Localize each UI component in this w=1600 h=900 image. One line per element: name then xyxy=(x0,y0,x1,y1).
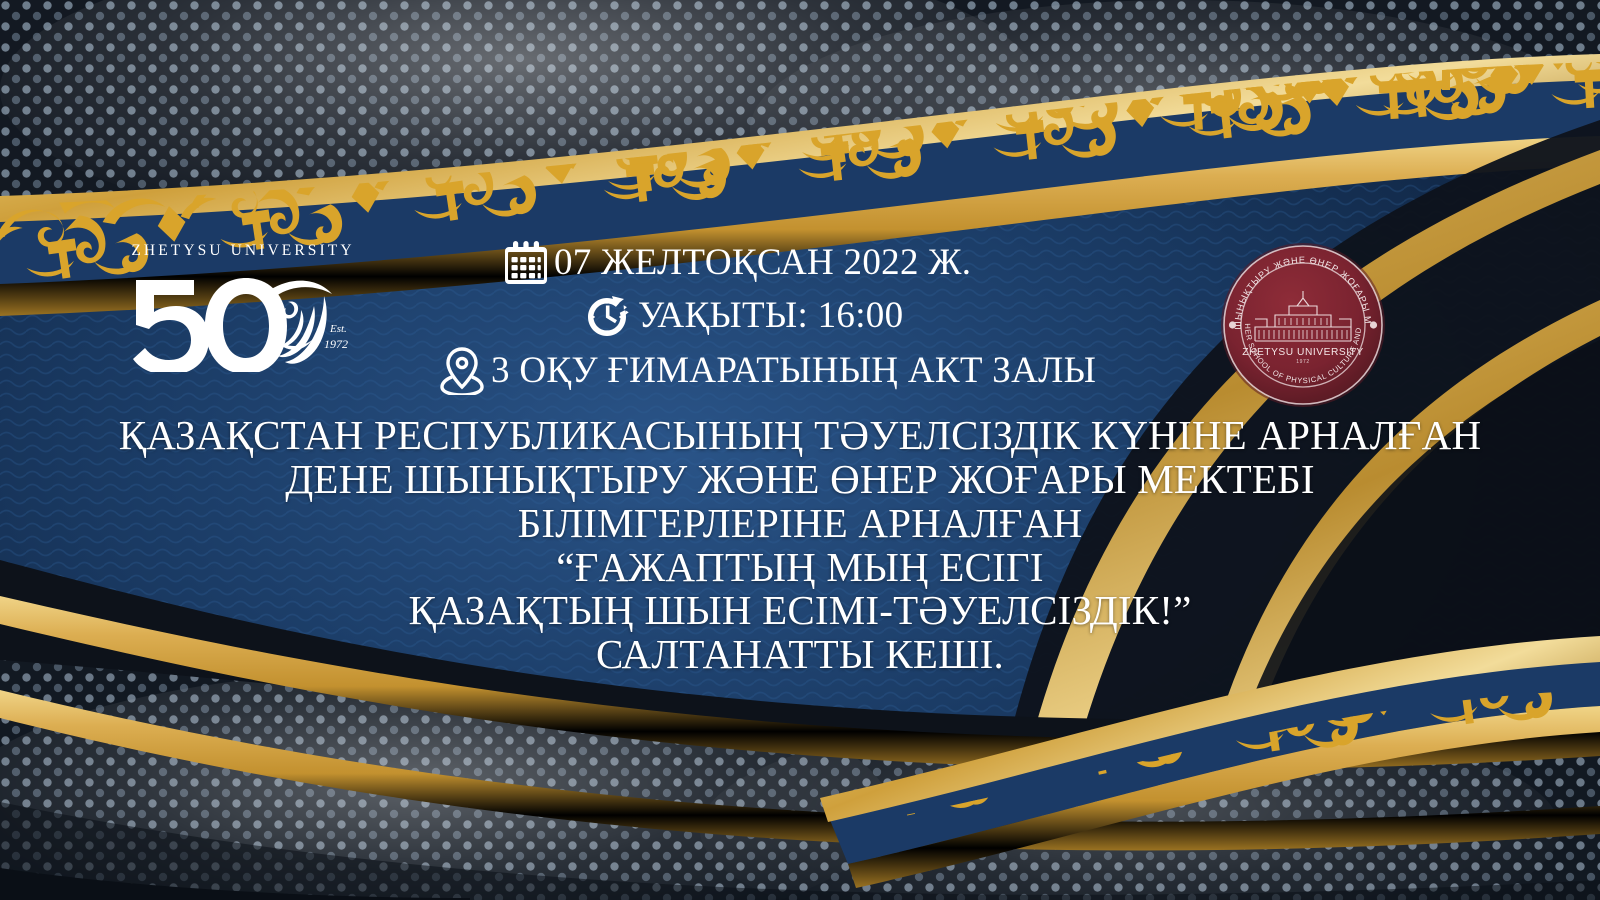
event-time-row: УАҚЫТЫ: 16:00 xyxy=(440,288,1080,342)
event-time-text: УАҚЫТЫ: 16:00 xyxy=(638,297,903,334)
headline-line: САЛТАНАТТЫ КЕШІ. xyxy=(0,633,1600,677)
event-details: 07 ЖЕЛТОҚСАН 2022 Ж. УАҚЫТЫ: 16:00 xyxy=(440,236,1080,398)
location-pin-icon xyxy=(440,345,484,395)
logo-est-label: Est. xyxy=(329,323,347,335)
headline-line: БІЛІМГЕРЛЕРІНЕ АРНАЛҒАН xyxy=(0,502,1600,546)
event-date-row: 07 ЖЕЛТОҚСАН 2022 Ж. xyxy=(440,236,1080,288)
logo-university-name: ZHETYSU UNIVERSITY xyxy=(118,242,368,260)
emblem-center-label: ZHETYSU UNIVERSITY xyxy=(1242,347,1363,358)
headline-line: ДЕНЕ ШЫНЫҚТЫРУ ЖӘНЕ ӨНЕР ЖОҒАРЫ МЕКТЕБІ xyxy=(0,458,1600,502)
poster-headline: ҚАЗАҚСТАН РЕСПУБЛИКАСЫНЫҢ ТӘУЕЛСІЗДІК КҮ… xyxy=(0,414,1600,677)
event-place-text: 3 ОҚУ ҒИМАРАТЫНЫҢ АКТ ЗАЛЫ xyxy=(491,352,1096,389)
event-place-row: 3 ОҚУ ҒИМАРАТЫНЫҢ АКТ ЗАЛЫ xyxy=(440,342,1080,398)
calendar-icon xyxy=(505,240,547,284)
logo-est-year: 1972 xyxy=(324,337,348,351)
headline-line: ҚАЗАҚСТАН РЕСПУБЛИКАСЫНЫҢ ТӘУЕЛСІЗДІК КҮ… xyxy=(0,414,1600,458)
emblem-center-sub: 1972 xyxy=(1296,359,1310,365)
university-anniversary-logo: ZHETYSU UNIVERSITY Est. 1 xyxy=(118,242,368,382)
clock-icon xyxy=(585,292,631,338)
logo-50-jyl-mark: Est. 1972 xyxy=(118,260,368,372)
headline-line: “ҒАЖАПТЫҢ МЫҢ ЕСІГІ xyxy=(0,546,1600,590)
headline-line: ҚАЗАҚТЫҢ ШЫН ЕСІМІ-ТӘУЕЛСІЗДІК!” xyxy=(0,589,1600,633)
event-date-text: 07 ЖЕЛТОҚСАН 2022 Ж. xyxy=(554,244,971,281)
school-emblem: ДЕНЕ ШЫНЫҚТЫРУ ЖӘНЕ ӨНЕР ЖОҒАРЫ МЕКТЕБІ … xyxy=(1219,241,1387,409)
event-poster: ZHETYSU UNIVERSITY Est. 1 xyxy=(0,0,1600,900)
